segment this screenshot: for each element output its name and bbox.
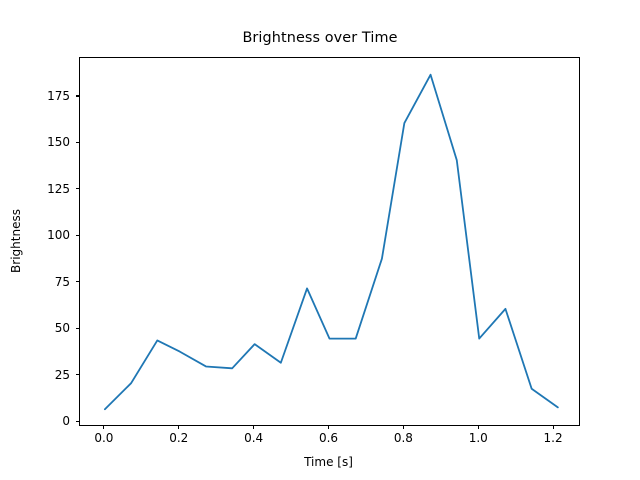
- x-tick-label: 0.6: [319, 431, 338, 445]
- data-line-series: [80, 58, 579, 425]
- page-title: Brightness over Time: [0, 30, 640, 46]
- y-tick-mark: [76, 281, 80, 282]
- y-tick-label: 150: [47, 135, 70, 149]
- brightness-line: [105, 75, 558, 409]
- y-axis-label: Brightness: [8, 57, 24, 424]
- x-tick-mark: [253, 425, 254, 429]
- x-tick-label: 1.2: [544, 431, 563, 445]
- x-tick-mark: [103, 425, 104, 429]
- x-tick-label: 0.4: [244, 431, 263, 445]
- x-tick-mark: [553, 425, 554, 429]
- y-tick-mark: [76, 374, 80, 375]
- y-tick-label: 50: [55, 321, 70, 335]
- x-tick-label: 0.2: [169, 431, 188, 445]
- x-tick-mark: [178, 425, 179, 429]
- y-tick-mark: [76, 328, 80, 329]
- x-tick-label: 1.0: [469, 431, 488, 445]
- y-tick-label: 0: [62, 414, 70, 428]
- matplotlib-figure: Brightness over Time Brightness Time [s]…: [0, 0, 640, 480]
- y-tick-label: 75: [55, 275, 70, 289]
- y-tick-mark: [76, 235, 80, 236]
- x-axis-label: Time [s]: [79, 455, 578, 469]
- x-tick-label: 0.8: [394, 431, 413, 445]
- y-tick-mark: [76, 421, 80, 422]
- x-tick-mark: [478, 425, 479, 429]
- y-tick-mark: [76, 95, 80, 96]
- y-tick-mark: [76, 142, 80, 143]
- x-tick-label: 0.0: [94, 431, 113, 445]
- x-tick-mark: [328, 425, 329, 429]
- y-tick-label: 175: [47, 89, 70, 103]
- y-tick-label: 25: [55, 368, 70, 382]
- y-tick-mark: [76, 188, 80, 189]
- plot-area: [79, 57, 580, 426]
- y-tick-label: 100: [47, 228, 70, 242]
- y-axis-label-text: Brightness: [9, 209, 23, 273]
- y-tick-label: 125: [47, 182, 70, 196]
- x-tick-mark: [403, 425, 404, 429]
